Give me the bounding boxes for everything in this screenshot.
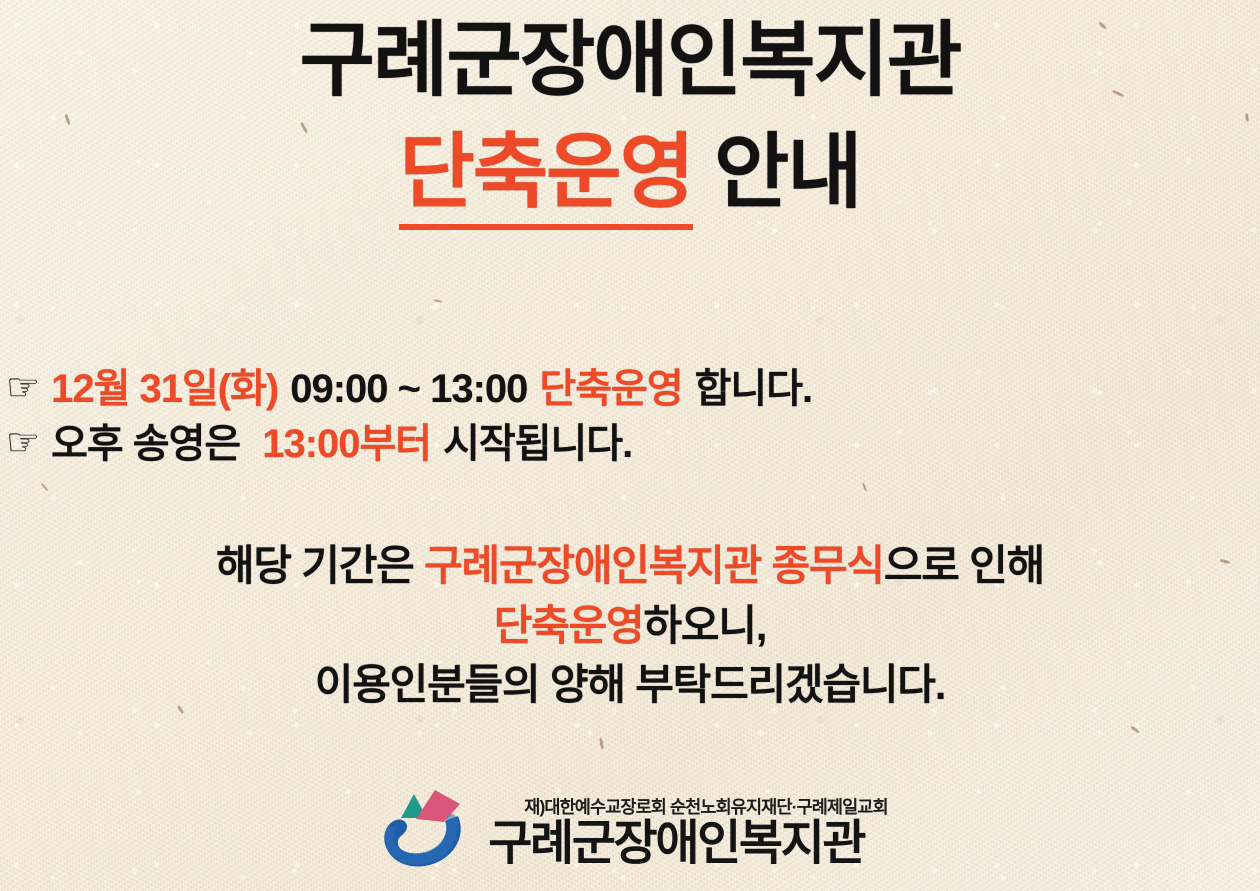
paragraph-line-1-prefix: 해당 기간은 — [216, 542, 424, 589]
title-suffix-notice: 안내 — [693, 127, 861, 218]
paper-fibre-speck — [599, 738, 604, 749]
notice-shuttle-verb: 시작됩니다. — [443, 417, 632, 472]
paper-fibre-speck — [434, 299, 442, 303]
paper-fibre-speck — [1245, 113, 1249, 121]
paragraph-line-3: 이용인분들의 양해 부탁드리겠습니다. — [0, 655, 1260, 715]
paragraph-line-1-suffix: 으로 인해 — [884, 542, 1044, 589]
notice-date: 12월 31일(화) — [51, 362, 278, 417]
gurye-welfare-center-logo-mark — [372, 788, 482, 880]
organization-logo: 재)대한예수교장로회 순천노회유지재단·구례제일교회 구례군장애인복지관 — [0, 788, 1260, 880]
notice-bullet-item: ☞ 오후 송영은 13:00부터 시작됩니다. — [0, 417, 1260, 472]
pointing-hand-icon: ☞ — [6, 369, 39, 407]
paragraph-reason-highlight: 구례군장애인복지관 종무식 — [424, 542, 884, 589]
paper-fibre-speck — [862, 482, 867, 491]
poster-title-line-2: 단축운영 안내 — [0, 130, 1260, 216]
logo-subtitle: 재)대한예수교장로회 순천노회유지재단·구례제일교회 — [488, 799, 887, 817]
notice-short-hours-label: 단축운영 — [539, 362, 682, 417]
logo-organization-name: 구례군장애인복지관 — [488, 820, 887, 869]
logo-text-block: 재)대한예수교장로회 순천노회유지재단·구례제일교회 구례군장애인복지관 — [488, 799, 887, 868]
paragraph-line-1: 해당 기간은 구례군장애인복지관 종무식으로 인해 — [0, 536, 1260, 596]
paragraph-line-2-suffix: 하오니, — [643, 602, 766, 649]
poster-title-line-1: 구례군장애인복지관 — [0, 18, 1260, 104]
poster-canvas: 구례군장애인복지관 단축운영 안내 ☞ 12월 31일(화) 09:00 ~ 1… — [0, 0, 1260, 891]
notice-bullet-list: ☞ 12월 31일(화) 09:00 ~ 13:00 단축운영 합니다. ☞ 오… — [0, 362, 1260, 472]
paper-fibre-speck — [1130, 725, 1140, 733]
paper-fibre-speck — [41, 483, 49, 491]
title-highlight-short-hours: 단축운영 — [399, 127, 693, 230]
notice-bullet-item: ☞ 12월 31일(화) 09:00 ~ 13:00 단축운영 합니다. — [0, 362, 1260, 417]
notice-shuttle-label: 오후 송영은 — [51, 417, 240, 472]
paragraph-line-2: 단축운영하오니, — [0, 596, 1260, 656]
notice-verb: 합니다. — [695, 362, 813, 417]
paper-fibre-speck — [64, 114, 70, 125]
notice-time-range: 09:00 ~ 13:00 — [290, 362, 527, 417]
paragraph-short-hours-highlight: 단축운영 — [494, 602, 644, 649]
notice-shuttle-time: 13:00부터 — [262, 417, 431, 472]
notice-paragraph: 해당 기간은 구례군장애인복지관 종무식으로 인해 단축운영하오니, 이용인분들… — [0, 536, 1260, 715]
pointing-hand-icon: ☞ — [6, 424, 39, 462]
